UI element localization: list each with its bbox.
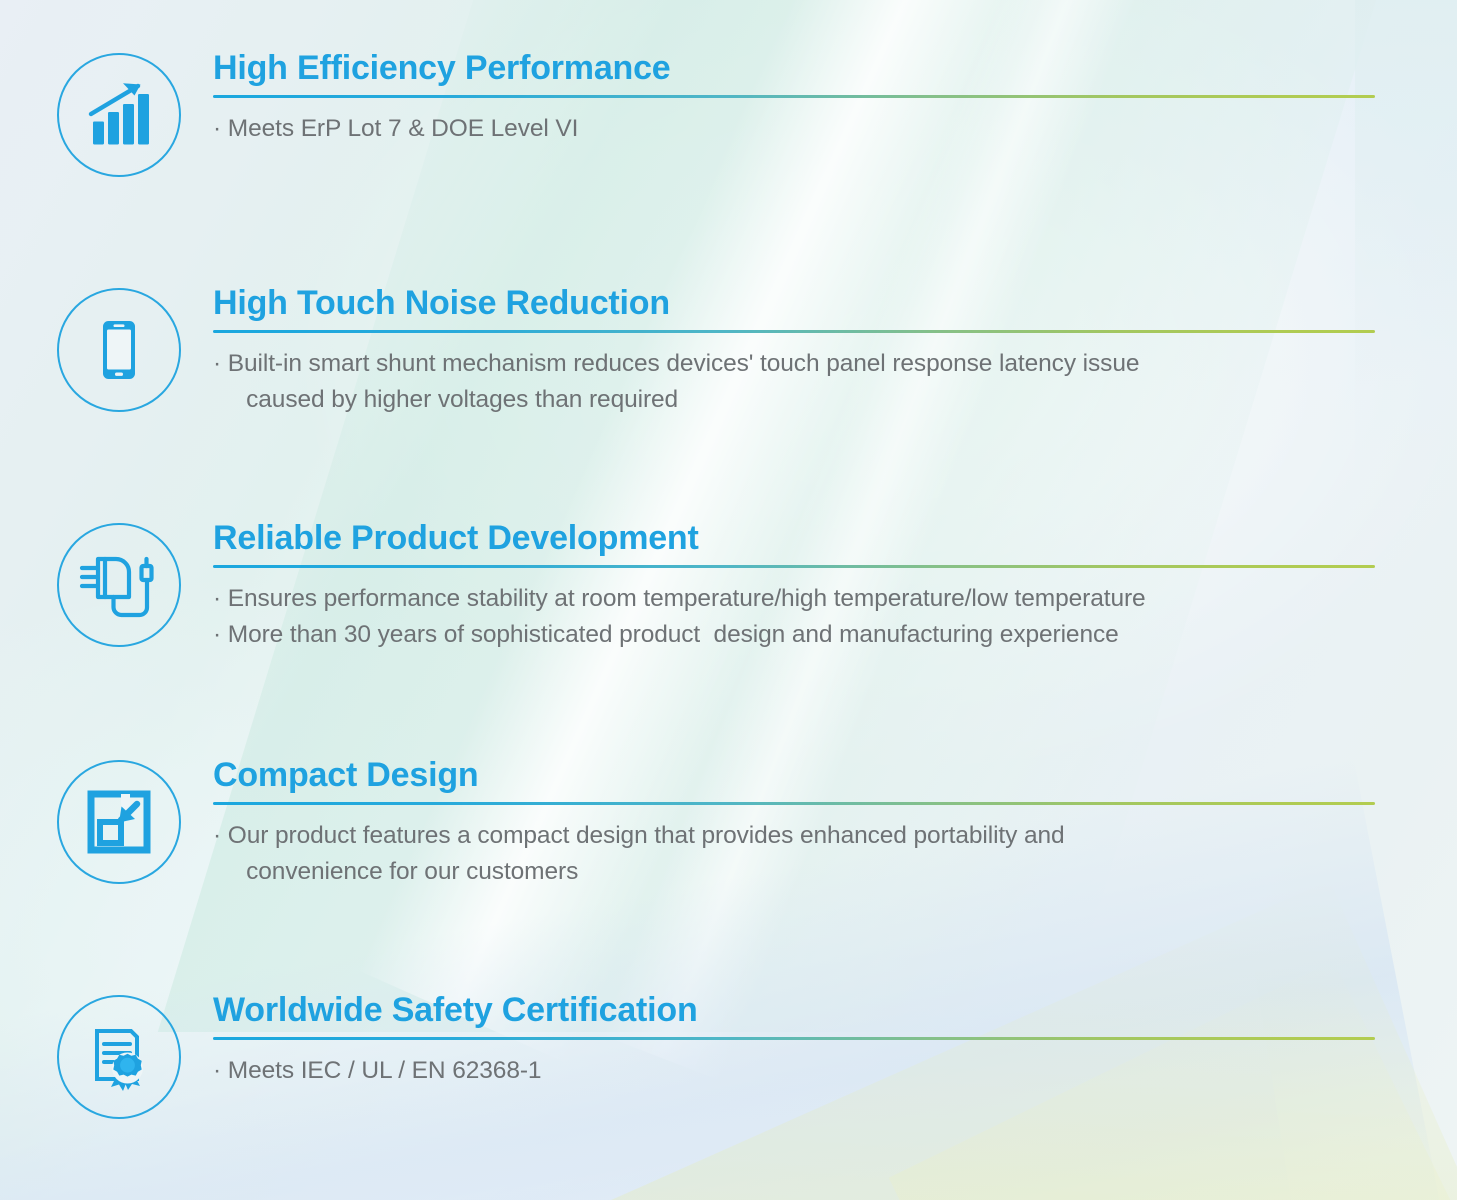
- feature-bullet-list: · Our product features a compact design …: [213, 818, 1457, 890]
- compact-resize-icon: [57, 760, 181, 884]
- feature-text-compact-design: Compact Design · Our product features a …: [213, 757, 1457, 890]
- feature-divider: [213, 330, 1375, 333]
- feature-title: Compact Design: [213, 757, 1457, 793]
- feature-bullet: · Ensures performance stability at room …: [213, 581, 1457, 617]
- feature-divider: [213, 1037, 1375, 1040]
- feature-bullet: · Our product features a compact design …: [213, 818, 1457, 890]
- smartphone-icon: [57, 288, 181, 412]
- feature-text-reliable-product-development: Reliable Product Development · Ensures p…: [213, 520, 1457, 653]
- bar-chart-growth-icon: [57, 53, 181, 177]
- feature-bullet: · Meets IEC / UL / EN 62368-1: [213, 1053, 1457, 1089]
- feature-title: High Efficiency Performance: [213, 50, 1457, 86]
- feature-highlights-panel: High Efficiency Performance · Meets ErP …: [0, 0, 1457, 1200]
- feature-bullet: · Meets ErP Lot 7 & DOE Level VI: [213, 111, 1457, 147]
- feature-divider: [213, 95, 1375, 98]
- feature-text-worldwide-safety-certification: Worldwide Safety Certification · Meets I…: [213, 992, 1457, 1089]
- feature-title: Worldwide Safety Certification: [213, 992, 1457, 1028]
- feature-text-high-touch-noise-reduction: High Touch Noise Reduction · Built-in sm…: [213, 285, 1457, 418]
- feature-bullet: · More than 30 years of sophisticated pr…: [213, 617, 1457, 653]
- feature-bullet: · Built-in smart shunt mechanism reduces…: [213, 346, 1457, 418]
- feature-bullet-list: · Built-in smart shunt mechanism reduces…: [213, 346, 1457, 418]
- feature-bullet-list: · Meets ErP Lot 7 & DOE Level VI: [213, 111, 1457, 147]
- feature-bullet-list: · Meets IEC / UL / EN 62368-1: [213, 1053, 1457, 1089]
- feature-bullet-list: · Ensures performance stability at room …: [213, 581, 1457, 653]
- power-adapter-icon: [57, 523, 181, 647]
- feature-text-high-efficiency-performance: High Efficiency Performance · Meets ErP …: [213, 50, 1457, 147]
- feature-title: Reliable Product Development: [213, 520, 1457, 556]
- certificate-award-icon: [57, 995, 181, 1119]
- feature-divider: [213, 802, 1375, 805]
- feature-title: High Touch Noise Reduction: [213, 285, 1457, 321]
- feature-divider: [213, 565, 1375, 568]
